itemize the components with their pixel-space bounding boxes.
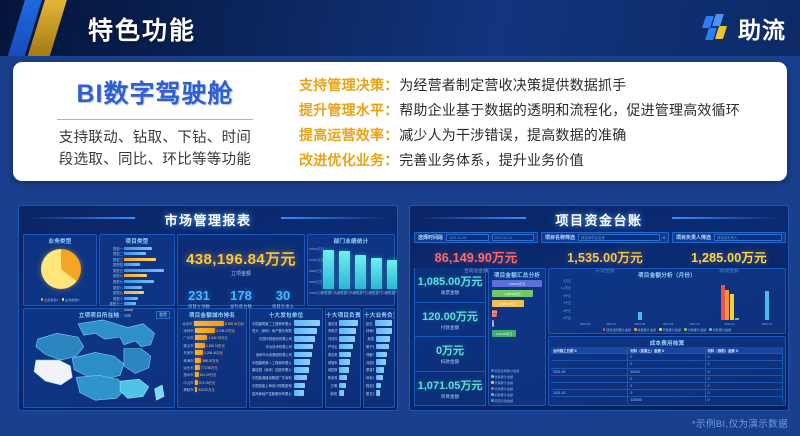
bar-fill [124,247,152,250]
bar-label: 类型十 [102,296,124,301]
china-map-svg[interactable] [28,318,172,406]
bar-row[interactable]: 类型一 [102,246,171,250]
item-bar [339,344,353,350]
bar-row[interactable]: 类型八 [102,285,171,289]
list-item[interactable]: 王琳 [328,382,358,388]
item-name: 中国能源建设集团广东省电力设计院 [252,375,292,380]
filter-date-range[interactable]: 选择时间段 2021-11-25 2022-01-24 [414,232,538,243]
table-header-cell[interactable]: 材料（混凝土）金额 ⇅ [628,347,705,353]
legend-item: 开票累计金额 [491,380,513,385]
panel-title-cost-table: 成本费用核算 [549,337,785,347]
filter-project-name[interactable]: 项目名称筛选 请选择项目名称 ▾ [541,232,669,243]
logo-text: 助流 [738,11,786,45]
list-item[interactable]: 中国建筑第二工程局有限公司 [252,320,320,326]
funnel-bar-fill: 1,071.05万元 [492,330,516,337]
month-chart-legend: 项目合同累计金额收票累计金额开票累计金额付款累计金额扣款累计金额 [551,327,783,332]
table-cell: 0 [628,383,705,389]
feature-list: 支持管理决策：为经营者制定营收决策提供数据抓手提升管理水平：帮助企业基于数据的透… [297,62,787,181]
dashboard-project-ledger[interactable]: 项目资金台账 选择时间段 2021-11-25 2022-01-24 项目名称筛… [409,205,789,411]
bar-fill [124,269,164,272]
filter-label-owner: 项目负责人筛选 [676,234,711,241]
feature-card: BI数字驾驶舱 支持联动、钻取、下钻、时间 段选取、同比、环比等等功能 支持管理… [13,62,787,181]
city-rank-row[interactable]: 东莞市1,206.44万元 [180,350,244,356]
city-value: 988.30万元 [203,358,219,363]
list-item[interactable]: 中国能源建设集团广东省电力设计院 [252,374,320,380]
month-chart-plot[interactable]: 2021-062021-072021-082021-092021-102021-… [572,279,782,320]
table-cell: 0 [706,369,783,375]
item-bar [376,390,380,396]
map-reset-button[interactable]: 重置 [156,311,170,319]
dept-bar-chart[interactable]: 销售部门A销售部门B销售部门C销售部门D销售部门E [321,247,391,295]
city-rank-row[interactable]: 汕头市772.56万元 [180,364,244,370]
city-value: 1,530.18万元 [206,343,225,348]
list-item[interactable]: 罗建军 [366,367,392,373]
axis-tick: 15000万元 [309,246,322,251]
legend-item: 收票累计金额 [491,374,513,379]
legend-item: 业务类型A [41,297,59,302]
city-bar [195,328,215,333]
x-tick: 2021-08 [635,322,645,326]
dashboard-header-right: 项目资金台账 [410,206,788,232]
item-name: 黄子健 [366,344,374,349]
item-name: 中国建筑第二工程局有限公司 [252,321,292,326]
table-cell [551,361,628,367]
item-bar [339,367,349,373]
table-cell: 2021-09 [551,369,628,375]
city-name: 北京市 [180,321,194,326]
list-item[interactable]: 黎智明 [328,359,358,365]
cost-table[interactable]: 合同施工日期 ⇅材料（混凝土）金额 ⇅材料（钢筋）金额 ⇅00002021-09… [551,347,783,403]
list-item[interactable]: 林海涛 [366,328,392,334]
panel-title-funnel: 项目金额汇总分析 [489,269,545,279]
bar-label: 类型十一 [102,301,124,306]
top-units-list[interactable]: 中国建筑第二工程局有限公司恒大（深圳）地产置业有限公司中国中铁股份有限公司华为技… [252,320,320,398]
item-bar [294,320,320,326]
axis-tick: 1.2万元 [551,286,571,290]
panel-title-project-type: 项目类型 [100,235,174,245]
item-name: 中国铁建上海设计院集团有限公司市政设计工程有限公司 [252,383,292,388]
list-item[interactable]: 深圳市水务集团有限公司 [252,351,320,357]
panel-top-units[interactable]: 十大发包单位 中国建筑第二工程局有限公司恒大（深圳）地产置业有限公司中国中铁股份… [249,308,323,408]
filter-label-project: 项目名称筛选 [545,234,575,241]
funnel-bar[interactable]: 1,071.05万元 [492,330,542,337]
table-cell: 0 [628,354,705,360]
bar-row[interactable]: 类型二 [102,252,171,256]
city-bar [195,387,197,392]
kpi-total-amount: 438,196.84万元 [178,248,304,269]
page-title: 特色功能 [88,11,196,47]
x-tick: 2021-07 [606,322,616,326]
list-item[interactable]: 吴燕 [366,336,392,342]
panel-project-map[interactable]: 立项项目所在地 重置 [23,308,175,408]
table-cell [551,354,628,360]
city-name: 揭阳市 [180,387,195,392]
panel-title-top-biz: 十大业务负责 [364,309,394,319]
funnel-bar[interactable]: 120.00万元 [492,310,542,317]
list-item[interactable]: 恒大（深圳）地产置业有限公司 [252,328,320,334]
feature-row: 改进优化业务：完善业务体系，提升业务价值 [299,150,777,171]
top-pm-list[interactable]: 曾志强李俊杰刘伟华严伟业周志刚黎智明胡国辉陈家俊王琳郭亮 [328,320,358,398]
item-bar [376,367,384,373]
axis-tick: 9000万元 [309,268,322,273]
legend-item: 项目合同累计金额 [491,368,519,373]
axis-tick: 2千元 [551,316,571,320]
list-item[interactable]: 邓秋月 [366,374,392,380]
item-bar [339,359,350,365]
panel-top-pm[interactable]: 十大项目负责 曾志强李俊杰刘伟华严伟业周志刚黎智明胡国辉陈家俊王琳郭亮 [325,308,361,408]
feature-key: 改进优化业务 [299,150,384,171]
feature-key: 提高运营效率 [299,125,384,146]
legend-item: 业务类型B [62,297,80,302]
city-bar [195,358,201,363]
item-bar [294,359,310,365]
date-from-value: 2021-11-25 [449,236,466,240]
date-from-input[interactable]: 2021-11-25 [446,234,489,241]
legend-item: 付款累计金额 [491,386,513,391]
table-cell: 0 [706,354,783,360]
city-value: 5,820.41万元 [225,321,244,326]
logo-lightning-icon [703,14,733,42]
bar-fill [124,297,138,300]
bi-heading: BI数字驾驶舱 [76,74,233,110]
list-item[interactable]: 何敏华 [366,351,392,357]
bar-label: 类型二 [102,251,124,256]
bar-fill [124,280,154,283]
city-bar [195,350,203,355]
funnel-bar[interactable]: 0万元 [492,320,542,327]
legend-item: 扣款累计金额 [709,327,731,332]
panel-funnel[interactable]: 项目金额汇总分析 1,535.00万元1,285.00万元1,085.00万元1… [488,268,546,406]
item-bar [376,375,383,381]
list-item[interactable]: 招商局地产控股股份有限公司 [252,390,320,396]
table-cell: 0 [706,383,783,389]
bi-intro-block: BI数字驾驶舱 支持联动、钻取、下钻、时间 段选取、同比、环比等等功能 [13,62,297,181]
bar-row[interactable]: 类型三 [102,257,171,261]
kpi-value: 30 [262,288,304,303]
item-bar [375,320,392,326]
item-bar [339,383,346,389]
legend-item: 项目合同累计金额 [603,327,631,332]
list-item[interactable]: 李俊杰 [328,328,358,334]
list-item[interactable]: 中国铁建上海设计院集团有限公司市政设计工程有限公司 [252,382,320,388]
kpi-value: 0万元 [436,342,464,358]
kpi-left-column: 1,085.00万元收票金额120.00万元付款金额0万元扣款金额1,071.0… [414,268,486,406]
item-bar [376,359,386,365]
bi-subtitle-line-2: 段选取、同比、环比等等功能 [59,150,251,171]
axis-tick: 1000万元 [309,290,322,295]
city-value: 610.09万元 [200,372,216,377]
panel-project-type[interactable]: 项目类型 类型一类型二类型三类型四类型五类型六类型七类型八类型九类型十类型十一类… [99,234,175,306]
kpi-total-amount-label: 立项金额 [178,270,304,277]
feature-value: 完善业务体系，提升业务价值 [399,150,584,171]
panel-kpi-left: 438,196.84万元 立项金额 231项目立项数178发包单位数30项目负责… [177,234,305,306]
list-item[interactable]: 中国建筑第八工程局有限公司 [252,359,320,365]
item-name: 恒大（深圳）地产置业有限公司 [252,328,292,333]
owner-select[interactable]: 请选择负责人 [714,234,782,241]
kpi-cell: 0万元扣款金额 [414,337,486,372]
dashboard-header-left: 市场管理报表 [19,206,397,232]
bar-row[interactable]: 类型五 [102,268,171,272]
table-header-cell[interactable]: 合同施工日期 ⇅ [551,347,628,353]
funnel-bar-fill: 1,085.00万元 [492,300,524,307]
list-item[interactable]: 碧桂园（深圳）控股有限公司 [252,367,320,373]
feature-colon: ： [384,150,398,171]
city-name: 广州市 [180,335,195,340]
item-bar [294,328,317,334]
dept-bar[interactable]: 销售部门C [353,247,369,295]
panel-title-dept-stats: 部门业绩统计 [308,235,394,245]
panel-business-type[interactable]: 业务类型 业务类型A业务类型B [23,234,97,306]
table-row[interactable]: 00 [551,383,783,390]
bar-group[interactable]: 2022-01 [765,279,769,320]
list-item[interactable]: 刘伟华 [328,336,358,342]
table-row[interactable]: 2021-1000 [551,390,783,397]
funnel-bar-chart[interactable]: 1,535.00万元1,285.00万元1,085.00万元120.00万元0万… [492,280,542,340]
city-rank-row[interactable]: 广州市1,942.75万元 [180,335,244,341]
list-item[interactable]: 冯丽娟 [366,359,392,365]
list-item[interactable]: 程浩然 [366,382,392,388]
dept-bar[interactable]: 销售部门E [385,247,398,295]
list-item[interactable]: 曾志强 [328,320,358,326]
city-value: 1,942.75万元 [209,335,228,340]
list-item[interactable]: 蔡文强 [366,390,392,396]
funnel-bar[interactable]: 1,085.00万元 [492,300,542,307]
item-name: 深圳市水务集团有限公司 [252,352,292,357]
table-header-row: 合同施工日期 ⇅材料（混凝土）金额 ⇅材料（钢筋）金额 ⇅ [551,347,783,354]
panel-cost-table[interactable]: 成本费用核算 合同施工日期 ⇅材料（混凝土）金额 ⇅材料（钢筋）金额 ⇅0000… [548,336,786,406]
item-bar [294,344,313,350]
project-name-select[interactable]: 请选择项目名称 [578,234,660,241]
feature-row: 提高运营效率：减少人为干涉错误，提高数据的准确 [299,125,777,146]
feature-row: 支持管理决策：为经营者制定营收决策提供数据抓手 [299,75,777,96]
item-bar [376,328,392,334]
city-value: 3,108.22万元 [216,328,235,333]
city-bar [195,335,207,340]
item-name: 胡国辉 [328,367,337,372]
table-row[interactable]: 1200000 [551,397,783,403]
panel-dept-stats[interactable]: 部门业绩统计 销售部门A销售部门B销售部门C销售部门D销售部门E 15000万元… [307,234,395,306]
bar-row[interactable]: 类型九 [102,291,171,295]
panel-city-rank[interactable]: 项目金额城市排名 北京市5,820.41万元深圳市3,108.22万元广州市1,… [177,308,247,408]
city-name: 珠海市 [180,358,195,363]
item-bar [376,383,381,389]
item-name: 陈家俊 [328,375,337,380]
city-bar [195,343,205,348]
feature-key: 提升管理水平 [299,100,384,121]
filter-label-date: 选择时间段 [418,234,443,241]
funnel-bar[interactable]: 1,285.00万元 [492,290,542,297]
brand-logo: 助流 [703,12,786,44]
list-item[interactable]: 周志刚 [328,351,358,357]
list-item[interactable]: 郭亮 [328,390,358,396]
item-name: 中国中铁股份有限公司 [252,336,292,341]
item-name: 邓秋月 [366,375,374,380]
city-rank-row[interactable]: 深圳市3,108.22万元 [180,327,244,333]
kpi-value: 231 [178,288,220,303]
legend-item: 付款累计金额 [684,327,706,332]
bar-label: 类型八 [102,285,124,290]
table-row[interactable]: 00 [551,354,783,361]
panel-title-month-chart: 项目金额分析（月份） [549,269,785,279]
item-name: 冯丽娟 [366,360,374,365]
item-bar [339,375,347,381]
table-row[interactable]: 00 [551,376,783,383]
item-name: 何敏华 [366,352,374,357]
header-accent-bars [10,0,80,56]
city-rank-bar-chart[interactable]: 北京市5,820.41万元深圳市3,108.22万元广州市1,942.75万元佛… [180,320,244,394]
list-item[interactable]: 华为技术有限公司 [252,343,320,349]
item-name: 蔡文强 [366,391,374,396]
city-rank-row[interactable]: 珠海市988.30万元 [180,357,244,363]
bar [730,294,734,320]
item-bar [376,336,390,342]
item-name: 严伟业 [328,344,337,349]
bar-row[interactable]: 类型十一 [102,302,171,306]
city-rank-row[interactable]: 揭阳市320.87万元 [180,387,244,393]
date-to-value: 2022-01-24 [495,236,512,240]
chevron-down-icon[interactable]: ▾ [663,235,665,240]
list-item[interactable]: 胡国辉 [328,367,358,373]
bar [638,312,642,320]
dashboard-title-right: 项目资金台账 [410,210,788,229]
panel-title-top-units: 十大发包单位 [250,309,322,319]
funnel-bar[interactable]: 1,535.00万元 [492,280,542,287]
kpi-invoiced-value: 1,535.00万元 [541,247,669,266]
list-item[interactable]: 中国中铁股份有限公司 [252,336,320,342]
kpi-contract-total-value: 86,149.90万元 [414,247,538,266]
item-bar [339,320,358,326]
panel-top-biz[interactable]: 十大业务负责 赵志伟林海涛吴燕黄子健何敏华冯丽娟罗建军邓秋月程浩然蔡文强 [363,308,395,408]
bar [735,318,739,320]
pie-chart-business-type[interactable] [41,249,81,289]
bar-group[interactable]: 2021-11 [721,279,739,320]
item-name: 林海涛 [366,328,374,333]
bar-fill [124,274,147,277]
city-value: 772.56万元 [201,365,217,370]
city-value: 1,206.44万元 [204,350,223,355]
feature-colon: ： [384,125,398,146]
table-cell: 0 [706,361,783,367]
bar-fill [124,302,136,305]
item-bar [376,352,387,358]
item-name: 周志刚 [328,352,337,357]
item-name: 李俊杰 [328,328,337,333]
city-rank-row[interactable]: 中山市474.25万元 [180,379,244,385]
city-name: 汕头市 [180,365,195,370]
table-row[interactable]: 00 [551,361,783,368]
list-item[interactable]: 陈家俊 [328,374,358,380]
item-bar [339,352,351,358]
table-cell [551,383,628,389]
date-to-input[interactable]: 2022-01-24 [492,234,535,241]
city-rank-row[interactable]: 惠州市610.09万元 [180,372,244,378]
demo-watermark: *示例BI,仅为演示数据 [692,416,788,430]
kpi-received-value: 1,285.00万元 [672,247,786,266]
item-name: 罗建军 [366,367,374,372]
table-cell: 0 [628,376,705,382]
bar-row[interactable]: 类型四 [102,263,171,267]
kpi-cell: 178发包单位数 [220,288,262,310]
bar-row[interactable]: 类型七 [102,280,171,284]
axis-tick: 9千元 [551,294,571,298]
item-name: 赵志伟 [366,321,373,326]
axis-tick: 5千元 [551,309,571,313]
dept-bar[interactable]: 销售部门A [321,247,337,295]
kpi-cell: 1,071.05万元项目金额 [414,372,486,407]
table-cell: 20000 [628,369,705,375]
feature-row: 提升管理水平：帮助企业基于数据的透明和流程化，促进管理高效循环 [299,100,777,121]
city-name: 佛山市 [180,343,195,348]
item-name: 程浩然 [366,383,374,388]
table-cell: 0 [706,390,783,396]
funnel-bar-fill: 0万元 [492,320,494,327]
dashboard-market-report[interactable]: 市场管理报表 业务类型 业务类型A业务类型B 项目类型 类型一类型二类型三类型四… [18,205,398,411]
list-item[interactable]: 黄子健 [366,343,392,349]
kpi-cell: 30项目负责人 [262,288,304,310]
city-bar [194,321,224,326]
table-cell: 0 [706,397,783,403]
city-bar [195,372,199,377]
top-biz-list[interactable]: 赵志伟林海涛吴燕黄子健何敏华冯丽娟罗建军邓秋月程浩然蔡文强 [366,320,392,398]
bar-row[interactable]: 类型六 [102,274,171,278]
kpi-value: 1,085.00万元 [418,273,483,289]
table-header-cell[interactable]: 材料（钢筋）金额 ⇅ [706,347,783,353]
panel-title-business-type: 业务类型 [24,235,96,245]
kpi-label: 付款金额 [441,325,459,331]
item-bar [294,367,309,373]
bar-label: 类型九 [102,290,124,295]
funnel-bar-fill: 1,535.00万元 [492,280,542,287]
bar-fill [124,286,142,289]
axis-tick: 1万元 [551,279,571,283]
funnel-bar-fill: 1,285.00万元 [492,290,533,297]
feature-key: 支持管理决策 [299,75,384,96]
item-name: 碧桂园（深圳）控股有限公司 [252,367,292,372]
bar-label: 类型三 [102,257,124,262]
axis-tick: 11000万元 [309,257,322,262]
city-bar [195,365,200,370]
item-name: 招商局地产控股股份有限公司 [252,391,292,396]
city-rank-row[interactable]: 佛山市1,530.18万元 [180,342,244,348]
dept-bar[interactable]: 销售部门D [369,247,385,295]
city-value: 474.25万元 [199,380,215,385]
x-tick: 2021-11 [725,322,735,326]
item-bar [294,390,304,396]
city-rank-row[interactable]: 北京市5,820.41万元 [180,320,244,326]
owner-placeholder: 请选择负责人 [717,235,737,240]
item-bar [339,336,355,342]
bar-row[interactable]: 类型十 [102,296,171,300]
panel-month-chart[interactable]: 项目金额分析（月份） 1万元1.2万元9千元7千元5千元2千元 2021-062… [548,268,786,334]
dept-y-axis: 15000万元11000万元9000万元5000万元1000万元 [309,246,322,295]
item-name: 刘伟华 [328,336,337,341]
bar-label: 类型七 [102,279,124,284]
dept-bar[interactable]: 销售部门B [337,247,353,295]
month-chart-y-axis: 1万元1.2万元9千元7千元5千元2千元 [551,279,571,320]
table-row[interactable]: 2021-09200000 [551,369,783,376]
item-name: 郭亮 [328,391,337,396]
bar-label: 类型四 [102,262,124,267]
panel-title-top-pm: 十大项目负责 [326,309,360,319]
list-item[interactable]: 严伟业 [328,343,358,349]
funnel-bar-fill: 120.00万元 [492,310,497,317]
project-name-placeholder: 请选择项目名称 [581,235,605,240]
list-item[interactable]: 赵志伟 [366,320,392,326]
kpi-label: 扣款金额 [441,359,459,365]
filter-owner[interactable]: 项目负责人筛选 请选择负责人 [672,232,786,243]
bar-group[interactable]: 2021-08 [638,279,642,320]
funnel-legend: 项目合同累计金额收票累计金额开票累计金额付款累计金额扣款累计金额项目可用金额 [491,368,543,403]
